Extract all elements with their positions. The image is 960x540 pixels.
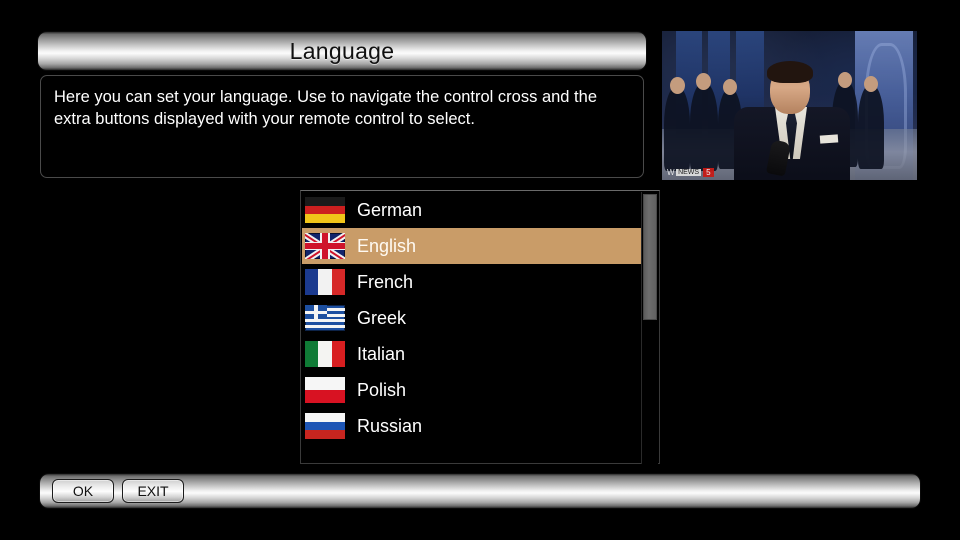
flag-de-icon xyxy=(305,197,345,223)
language-row-italian[interactable]: Italian xyxy=(302,336,643,372)
language-label: Greek xyxy=(357,309,406,327)
list-scrollbar[interactable] xyxy=(641,192,658,464)
flag-it-icon xyxy=(305,341,345,367)
video-preview[interactable]: W NEWS 5 xyxy=(662,31,917,180)
flag-gr-icon xyxy=(305,305,345,331)
broadcaster-logo: W NEWS 5 xyxy=(667,168,714,177)
language-row-german[interactable]: German xyxy=(302,192,643,228)
video-crowd-head xyxy=(696,73,711,90)
video-crowd-figure xyxy=(690,83,718,171)
broadcaster-logo-part2: NEWS xyxy=(676,169,701,176)
language-row-french[interactable]: French xyxy=(302,264,643,300)
flag-pl-icon xyxy=(305,377,345,403)
video-crowd-figure xyxy=(664,87,690,171)
language-label: German xyxy=(357,201,422,219)
video-crowd-head xyxy=(723,79,737,95)
language-row-greek[interactable]: Greek xyxy=(302,300,643,336)
language-label: Polish xyxy=(357,381,406,399)
language-label: French xyxy=(357,273,413,291)
exit-button[interactable]: EXIT xyxy=(122,479,184,503)
language-label: Italian xyxy=(357,345,405,363)
language-row-polish[interactable]: Polish xyxy=(302,372,643,408)
flag-fr-icon xyxy=(305,269,345,295)
video-crowd-head xyxy=(838,72,852,88)
video-reporter-pocket-square xyxy=(820,134,839,143)
video-crowd-head xyxy=(864,76,878,92)
tv-settings-screen: Language Here you can set your language.… xyxy=(0,0,960,540)
flag-ru-icon xyxy=(305,413,345,439)
language-row-english[interactable]: English xyxy=(302,228,643,264)
bottom-action-bar: OKEXIT xyxy=(40,474,920,508)
language-label: Russian xyxy=(357,417,422,435)
list-scrollbar-thumb[interactable] xyxy=(643,194,657,320)
language-row-russian[interactable]: Russian xyxy=(302,408,643,444)
description-panel: Here you can set your language. Use to n… xyxy=(40,75,644,178)
page-title: Language xyxy=(290,40,395,63)
language-list-panel: GermanEnglishFrenchGreekItalianPolishRus… xyxy=(300,190,660,464)
flag-gb-icon xyxy=(305,233,345,259)
description-text: Here you can set your language. Use to n… xyxy=(54,87,629,131)
video-reporter-hair xyxy=(767,61,813,83)
language-list[interactable]: GermanEnglishFrenchGreekItalianPolishRus… xyxy=(302,192,643,444)
video-crowd-figure xyxy=(858,85,884,169)
language-label: English xyxy=(357,237,416,255)
title-bar: Language xyxy=(38,32,646,70)
ok-button[interactable]: OK xyxy=(52,479,114,503)
video-crowd-head xyxy=(670,77,685,94)
broadcaster-logo-part1: W xyxy=(667,168,674,177)
broadcaster-logo-part3: 5 xyxy=(703,168,713,177)
